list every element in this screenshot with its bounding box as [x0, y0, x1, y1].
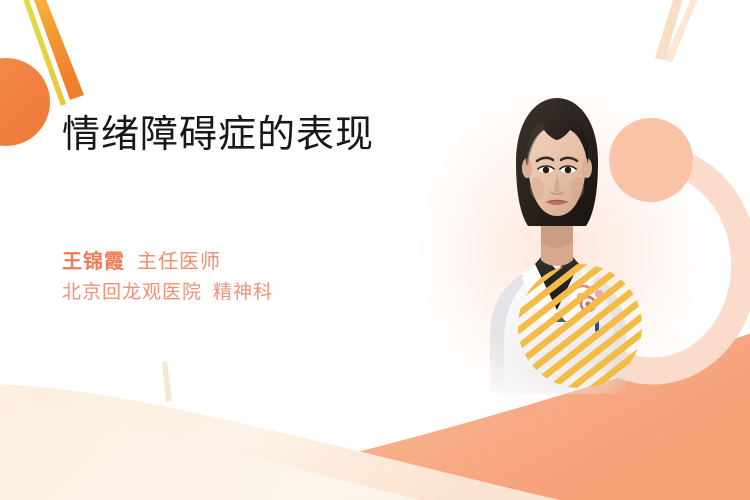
doctor-name: 王锦霞 [62, 251, 125, 273]
page-title: 情绪障碍症的表现 [62, 112, 462, 160]
cheek-shadow-right [570, 177, 584, 199]
doctor-credit-block: 王锦霞主任医师 北京回龙观医院精神科 [62, 246, 273, 309]
doctor-portrait [432, 64, 682, 394]
doctor-name-line: 王锦霞主任医师 [62, 246, 273, 278]
doctor-rank: 主任医师 [137, 251, 221, 273]
doctor-portrait-illustration [432, 64, 682, 394]
ear-right [582, 158, 592, 178]
pupil-right [565, 167, 572, 174]
title-block: 情绪障碍症的表现 [62, 112, 462, 160]
pocket-pen-icon [595, 316, 599, 332]
doctor-department: 精神科 [213, 282, 273, 303]
neck-shadow [541, 226, 573, 248]
cheek-shadow-left [530, 177, 544, 199]
doctor-hospital: 北京回龙观医院 [62, 282, 202, 303]
video-title-card: 情绪障碍症的表现 王锦霞主任医师 北京回龙观医院精神科 [0, 0, 750, 500]
doctor-affiliation-line: 北京回龙观医院精神科 [62, 278, 273, 309]
pupil-left [543, 167, 550, 174]
